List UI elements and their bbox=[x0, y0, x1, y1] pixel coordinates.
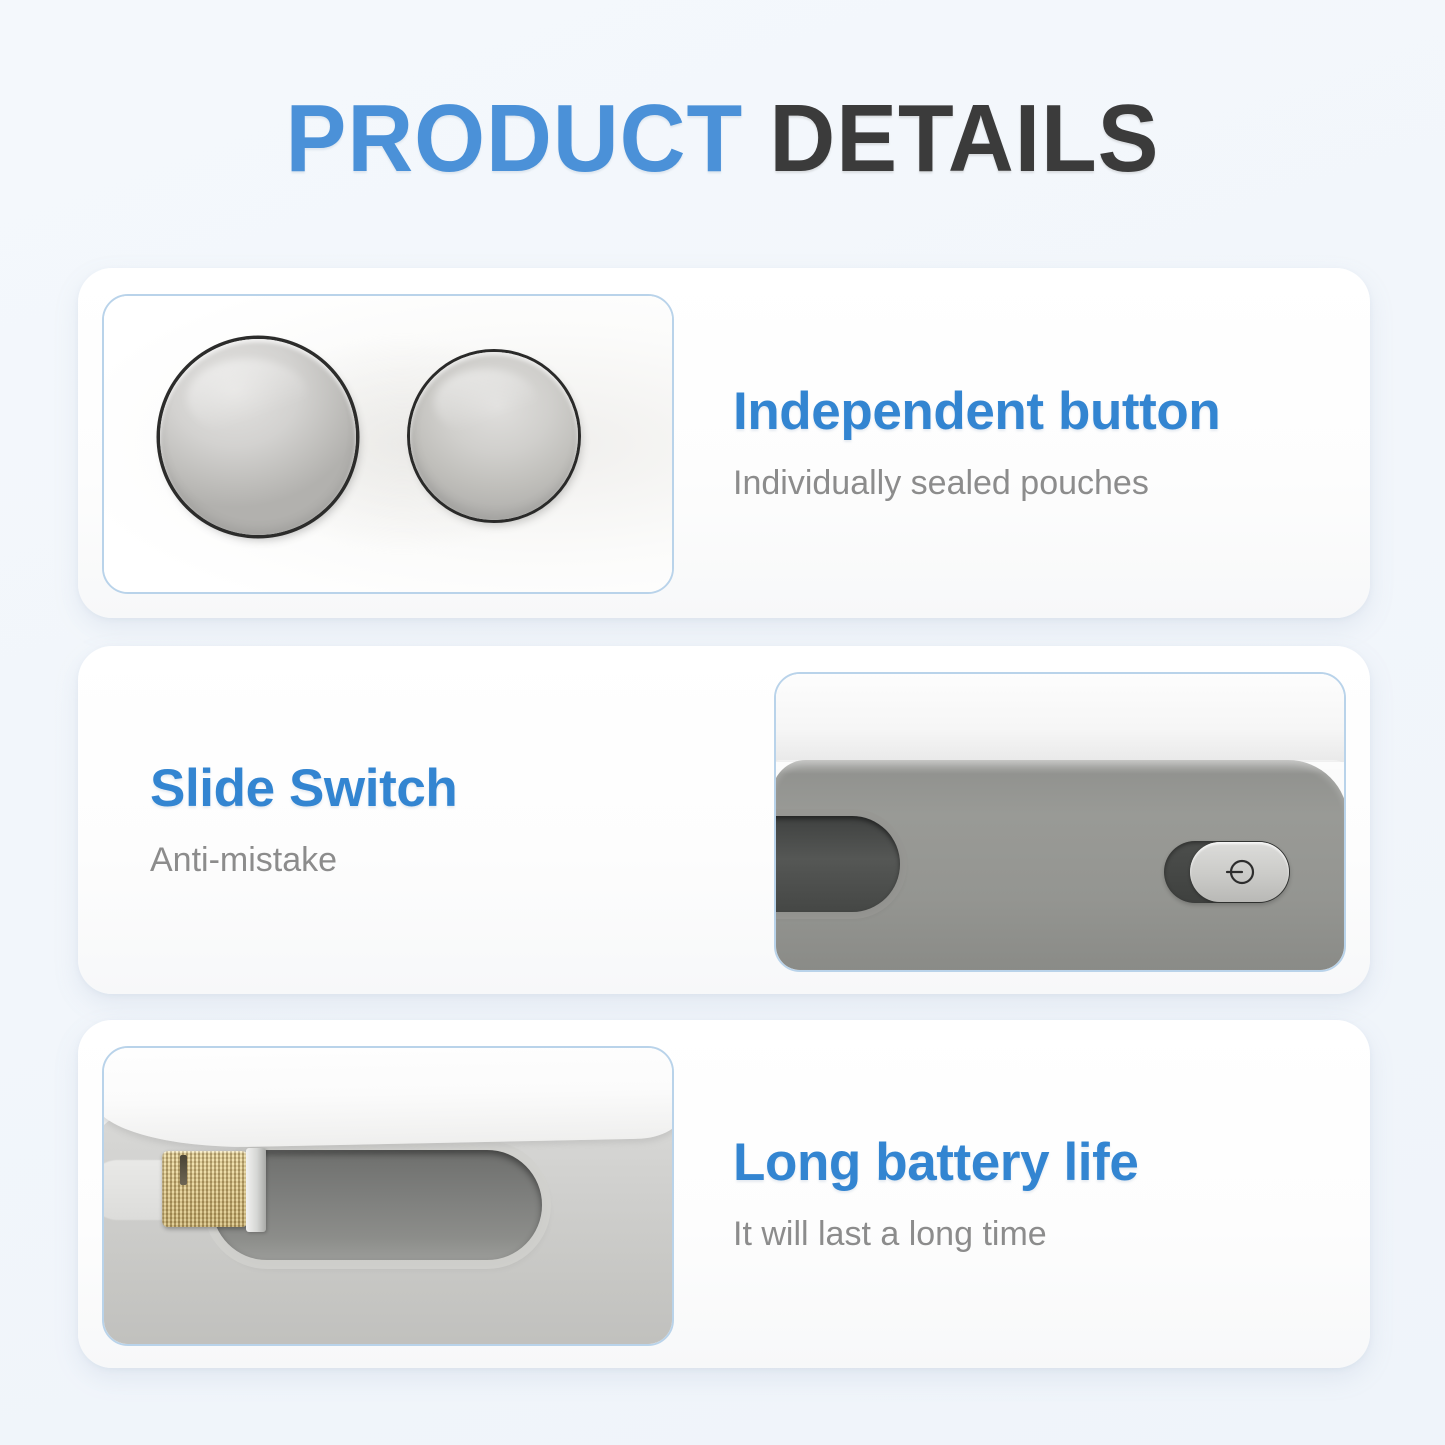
metal-button-large-icon bbox=[160, 339, 356, 535]
slide-switch-knob bbox=[1190, 842, 1289, 902]
battery-contact-edge bbox=[246, 1148, 266, 1232]
feature-text-block-3: Long battery life It will last a long ti… bbox=[733, 1020, 1353, 1368]
page-title-blue: PRODUCT bbox=[286, 85, 744, 192]
product-photo-buttons bbox=[102, 294, 674, 594]
feature-subline-3: It will last a long time bbox=[733, 1214, 1353, 1255]
feature-card-long-battery-life: Long battery life It will last a long ti… bbox=[78, 1020, 1370, 1368]
device-top-shell bbox=[102, 1046, 674, 1150]
product-photo-battery bbox=[102, 1046, 674, 1346]
feature-text-block-1: Independent button Individually sealed p… bbox=[733, 268, 1353, 618]
page-title: PRODUCT DETAILS bbox=[36, 86, 1409, 192]
recessed-slot bbox=[774, 816, 900, 912]
power-icon bbox=[1223, 855, 1257, 889]
buttons-scene bbox=[104, 296, 672, 592]
device-top-shell bbox=[776, 674, 1344, 762]
feature-text-block-2: Slide Switch Anti-mistake bbox=[150, 646, 750, 994]
feature-headline-2: Slide Switch bbox=[150, 759, 750, 818]
page-title-dark: DETAILS bbox=[769, 85, 1159, 192]
product-photo-slide-switch bbox=[774, 672, 1346, 972]
coin-battery-icon bbox=[162, 1151, 248, 1227]
product-details-infographic: PRODUCT DETAILS Independent button Indiv… bbox=[0, 0, 1445, 1445]
feature-headline-3: Long battery life bbox=[733, 1133, 1353, 1192]
feature-card-slide-switch: Slide Switch Anti-mistake bbox=[78, 646, 1370, 994]
feature-subline-2: Anti-mistake bbox=[150, 840, 750, 881]
battery-scene bbox=[104, 1048, 672, 1344]
feature-headline-1: Independent button bbox=[733, 382, 1353, 441]
switch-scene bbox=[776, 674, 1344, 970]
slide-switch-track bbox=[1164, 841, 1290, 903]
metal-button-small-icon bbox=[410, 352, 578, 520]
feature-card-independent-button: Independent button Individually sealed p… bbox=[78, 268, 1370, 618]
feature-subline-1: Individually sealed pouches bbox=[733, 463, 1353, 504]
